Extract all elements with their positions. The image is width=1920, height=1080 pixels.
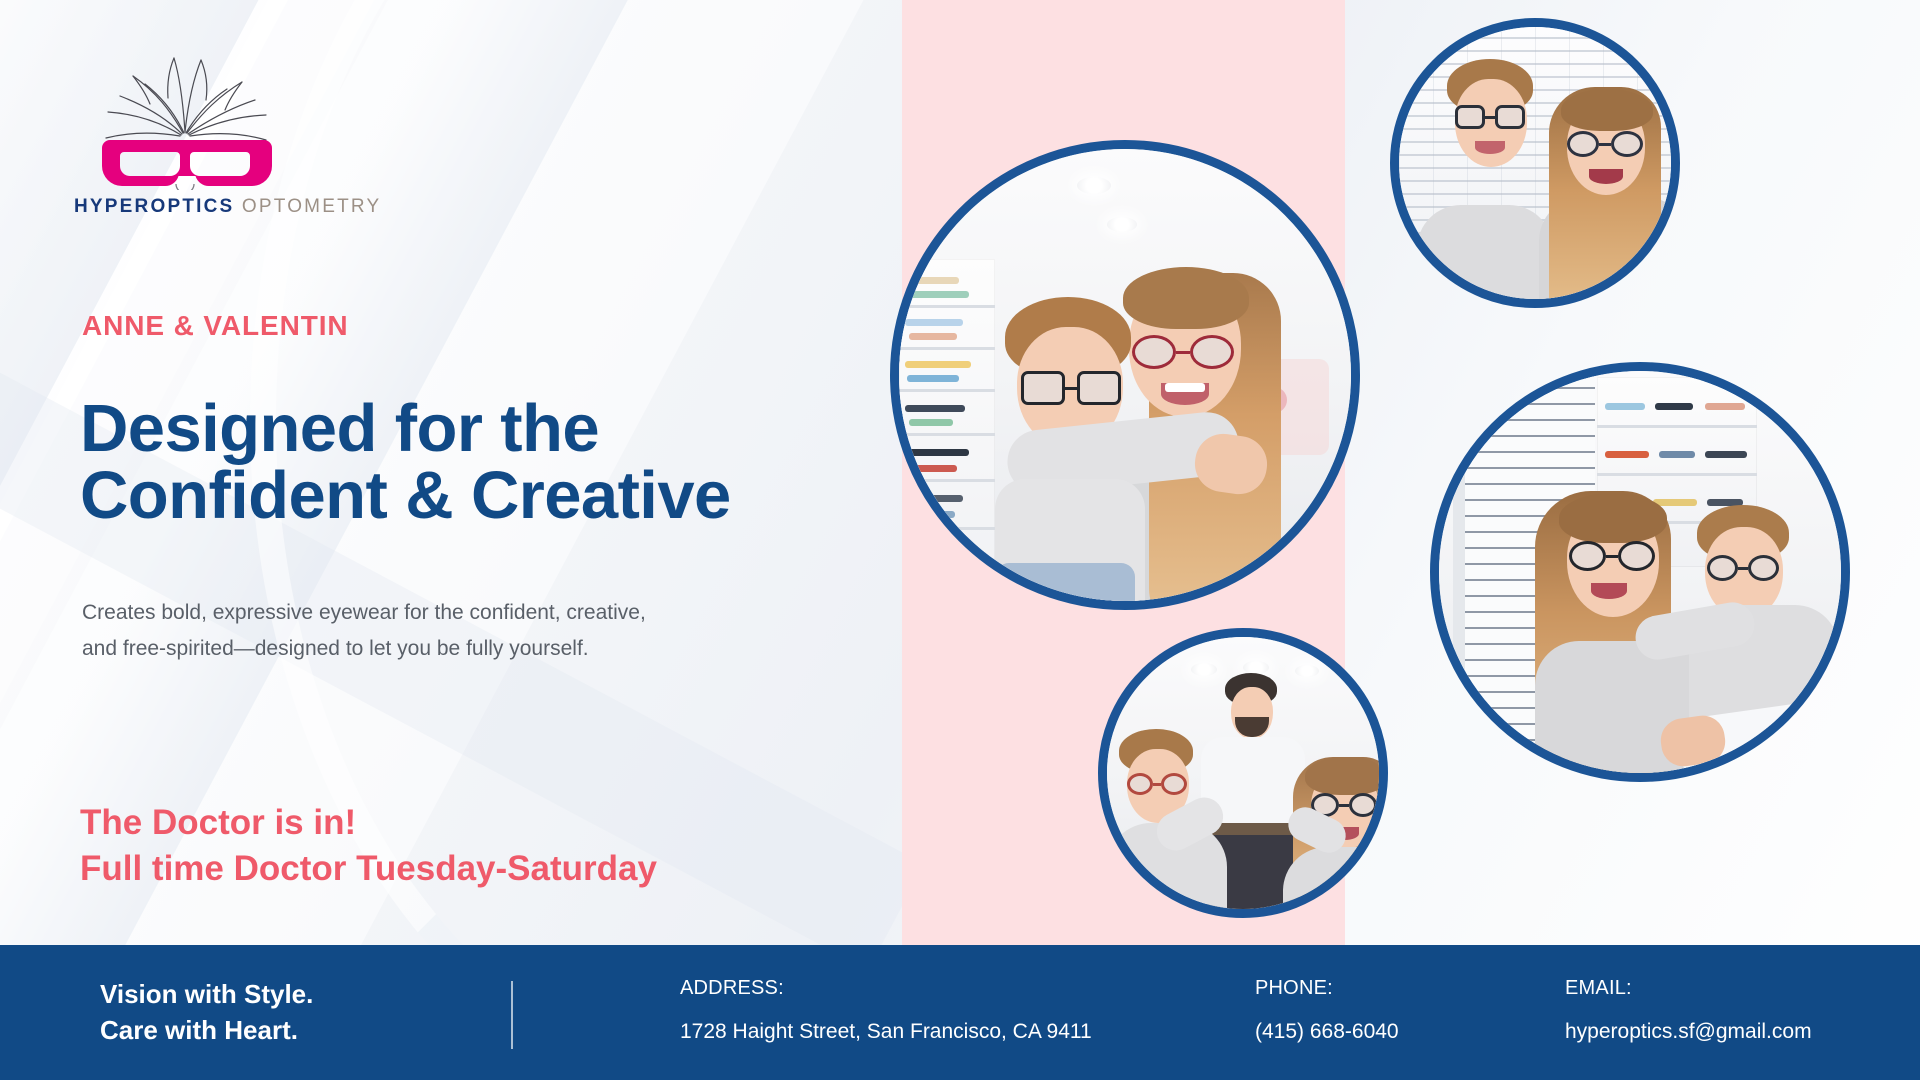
email-label: EMAIL: (1565, 977, 1812, 1000)
logo-wordmark: HYPEROPTICS OPTOMETRY (74, 196, 360, 218)
doctor-availability: The Doctor is in! Full time Doctor Tuesd… (80, 800, 840, 892)
address-value: 1728 Haight Street, San Francisco, CA 94… (680, 1020, 1092, 1044)
logo-name-bold: HYPEROPTICS (74, 196, 234, 217)
photo-woman-and-boy-at-display (1430, 362, 1850, 782)
glasses-with-plant-hair-icon (70, 40, 300, 190)
footer-tagline-line-2: Care with Heart. (100, 1013, 313, 1049)
footer-phone-column: PHONE: (415) 668-6040 (1255, 977, 1399, 1044)
description-line-2: and free-spirited—designed to let you be… (82, 631, 782, 667)
brand-logo: HYPEROPTICS OPTOMETRY (60, 40, 360, 218)
footer-bar: Vision with Style. Care with Heart. ADDR… (0, 945, 1920, 1080)
photo-boy-and-woman-portrait (1390, 18, 1680, 308)
photo-mother-hugging-boy (890, 140, 1360, 610)
footer-email-column: EMAIL: hyperoptics.sf@gmail.com (1565, 977, 1812, 1044)
headline-line-2: Confident & Creative (80, 462, 840, 529)
footer-address-column: ADDRESS: 1728 Haight Street, San Francis… (680, 977, 1092, 1044)
footer-tagline: Vision with Style. Care with Heart. (100, 977, 313, 1049)
photo-family-with-optician (1098, 628, 1388, 918)
address-label: ADDRESS: (680, 977, 1092, 1000)
headline-line-1: Designed for the (80, 395, 840, 462)
brand-eyebrow: ANNE & VALENTIN (82, 310, 349, 342)
description-line-1: Creates bold, expressive eyewear for the… (82, 595, 782, 631)
doctor-line-2: Full time Doctor Tuesday-Saturday (80, 846, 840, 892)
description-text: Creates bold, expressive eyewear for the… (82, 595, 782, 667)
logo-name-light: OPTOMETRY (242, 196, 381, 217)
email-value[interactable]: hyperoptics.sf@gmail.com (1565, 1020, 1812, 1044)
poster-canvas: HYPEROPTICS OPTOMETRY ANNE & VALENTIN De… (0, 0, 1920, 1080)
phone-label: PHONE: (1255, 977, 1399, 1000)
footer-divider (511, 981, 513, 1049)
footer-tagline-line-1: Vision with Style. (100, 977, 313, 1013)
doctor-line-1: The Doctor is in! (80, 800, 840, 846)
page-title: Designed for the Confident & Creative (80, 395, 840, 529)
phone-value[interactable]: (415) 668-6040 (1255, 1020, 1399, 1044)
